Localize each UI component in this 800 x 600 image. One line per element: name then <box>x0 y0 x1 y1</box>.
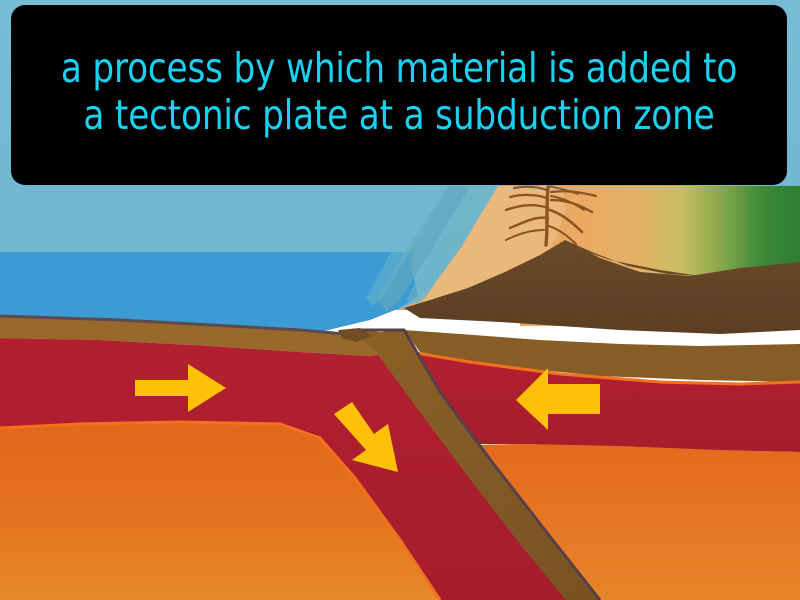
definition-caption-box: a process by which material is added to … <box>11 5 787 185</box>
definition-card: a process by which material is added to … <box>0 0 800 600</box>
definition-caption-text: a process by which material is added to … <box>47 45 750 138</box>
ocean-surface-band <box>0 252 412 262</box>
lava-channel-main <box>546 188 548 245</box>
